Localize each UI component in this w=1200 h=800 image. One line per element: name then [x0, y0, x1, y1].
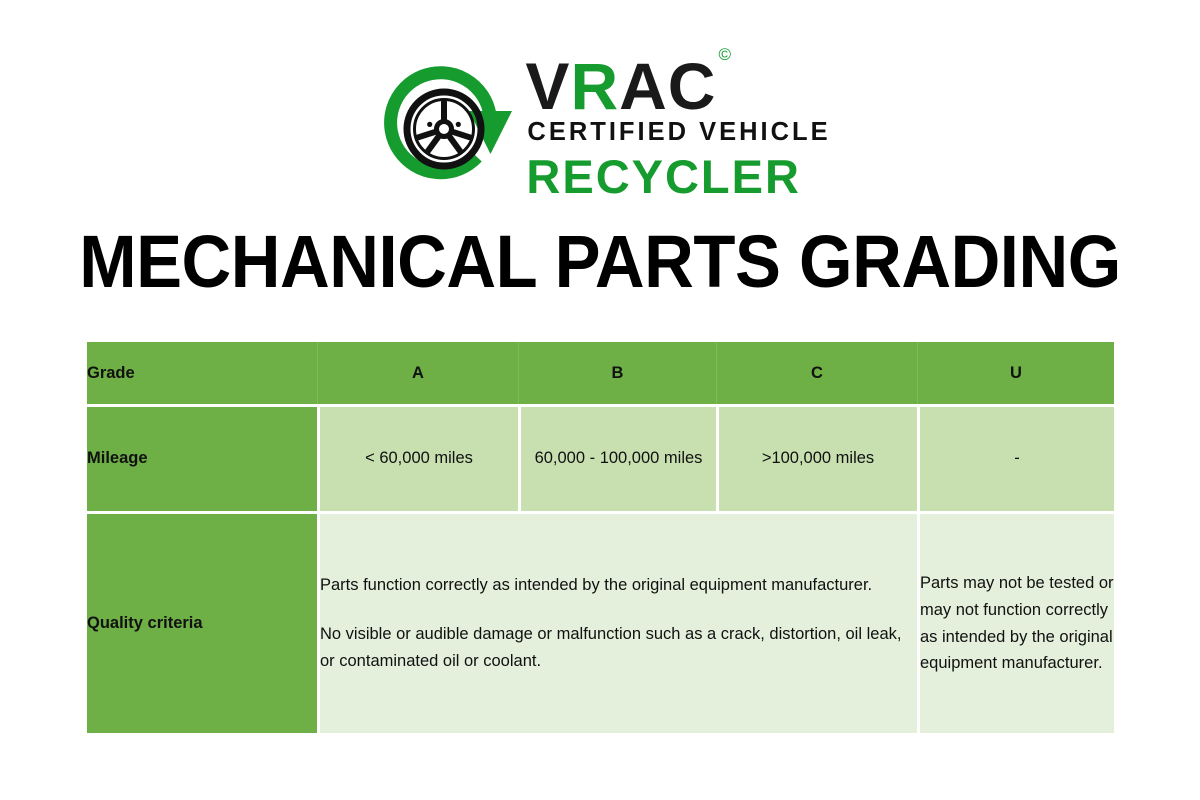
column-header-grade: Grade	[87, 342, 317, 404]
logo-wordmark: VRAC© CERTIFIED VEHICLE RECYCLER	[525, 52, 830, 204]
cell-mileage-c: >100,000 miles	[716, 404, 917, 511]
logo-letter-r: R	[570, 49, 619, 123]
quality-paragraph-2: No visible or audible damage or malfunct…	[320, 621, 917, 674]
row-label-mileage: Mileage	[87, 404, 317, 511]
cell-quality-criteria-abc: Parts function correctly as intended by …	[317, 511, 917, 733]
mechanical-parts-grading-table: Grade A B C U Mileage < 60,000 miles 60,…	[87, 342, 1114, 733]
logo-inner: VRAC© CERTIFIED VEHICLE RECYCLER	[369, 52, 830, 204]
wheel-rim-with-recycle-arrow-icon	[369, 53, 519, 203]
logo-letters-ac: AC	[619, 49, 716, 123]
cell-mileage-a: < 60,000 miles	[317, 404, 518, 511]
column-header-c: C	[716, 342, 917, 404]
logo-recycler-word: RECYCLER	[526, 149, 830, 204]
paragraph-spacer	[320, 599, 917, 621]
copyright-icon: ©	[718, 45, 732, 64]
cell-mileage-b: 60,000 - 100,000 miles	[518, 404, 716, 511]
cell-mileage-u: -	[917, 404, 1114, 511]
column-header-b: B	[518, 342, 716, 404]
logo-brand-name: VRAC©	[525, 56, 830, 117]
quality-paragraph-1: Parts function correctly as intended by …	[320, 572, 917, 599]
table-row-mileage: Mileage < 60,000 miles 60,000 - 100,000 …	[87, 404, 1114, 511]
table-row-quality-criteria: Quality criteria Parts function correctl…	[87, 511, 1114, 733]
logo-letter-v: V	[525, 49, 570, 123]
column-header-u: U	[917, 342, 1114, 404]
table-header-row: Grade A B C U	[87, 342, 1114, 404]
row-label-quality-criteria: Quality criteria	[87, 511, 317, 733]
cell-quality-criteria-u: Parts may not be tested or may not funct…	[917, 511, 1114, 733]
column-header-a: A	[317, 342, 518, 404]
page-title: MECHANICAL PARTS GRADING	[42, 219, 1158, 304]
brand-logo: VRAC© CERTIFIED VEHICLE RECYCLER	[0, 48, 1200, 208]
